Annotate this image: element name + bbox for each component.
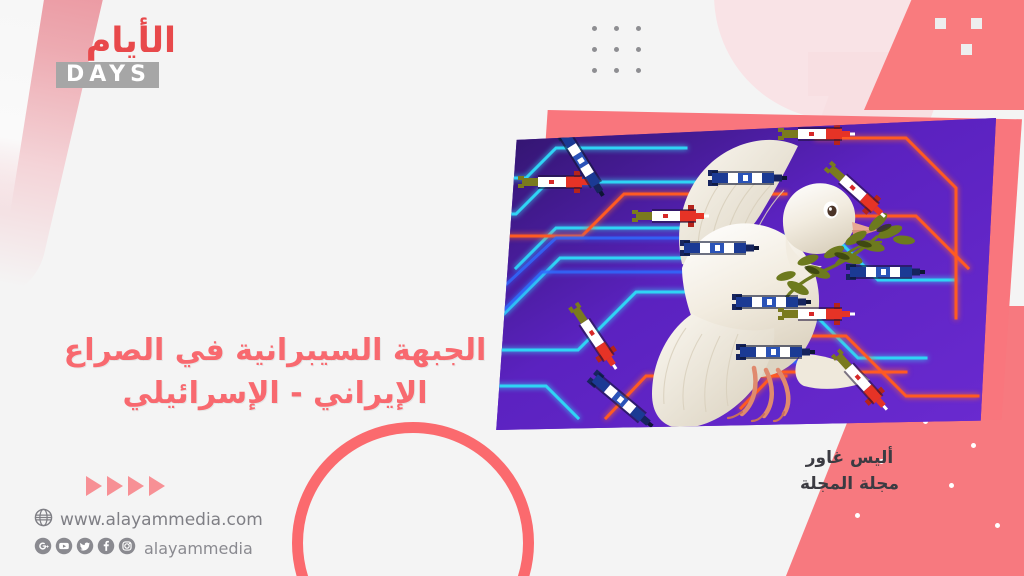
headline-line-2: الإيراني - الإسرائيلي xyxy=(40,373,510,416)
bottom-coral-ring xyxy=(292,422,534,576)
logo-arabic-text: الأيام xyxy=(56,24,176,59)
byline-source: مجلة المجلة xyxy=(800,471,899,497)
headline-line-1: الجبهة السيبرانية في الصراع xyxy=(40,330,510,373)
footer: www.alayammedia.com xyxy=(34,476,263,564)
cyber-warfare-dove-illustration xyxy=(486,118,996,430)
triangle-icon xyxy=(107,476,123,496)
byline: أليس غاور مجلة المجلة xyxy=(800,445,899,498)
poster-canvas: الأيام DAYS الجبهة السيبرانية في الصراع … xyxy=(0,0,1024,576)
page-title: الجبهة السيبرانية في الصراع الإيراني - ا… xyxy=(40,330,510,415)
social-row[interactable]: alayammedia xyxy=(34,537,263,559)
decor-dot xyxy=(995,523,1000,528)
social-handle[interactable]: alayammedia xyxy=(144,539,253,558)
website-url[interactable]: www.alayammedia.com xyxy=(60,510,263,530)
decor-dot xyxy=(949,483,954,488)
instagram-icon[interactable] xyxy=(118,537,136,559)
play-arrows-decoration xyxy=(86,476,263,496)
dot-grid-icon xyxy=(592,26,658,89)
decor-dot xyxy=(855,513,860,518)
decor-dot xyxy=(971,443,976,448)
corner-square-1 xyxy=(935,18,946,29)
logo-latin-text: DAYS xyxy=(56,62,159,88)
youtube-icon[interactable] xyxy=(55,537,73,559)
illustration-container xyxy=(486,118,1010,430)
triangle-icon xyxy=(128,476,144,496)
google-plus-icon[interactable] xyxy=(34,537,52,559)
twitter-icon[interactable] xyxy=(76,537,94,559)
byline-author: أليس غاور xyxy=(800,445,899,471)
corner-square-2 xyxy=(971,18,982,29)
facebook-icon[interactable] xyxy=(97,537,115,559)
globe-icon xyxy=(34,508,53,532)
website-row[interactable]: www.alayammedia.com xyxy=(34,508,263,532)
corner-square-3 xyxy=(961,44,972,55)
triangle-icon xyxy=(86,476,102,496)
brand-logo[interactable]: الأيام DAYS xyxy=(56,24,176,88)
triangle-icon xyxy=(149,476,165,496)
